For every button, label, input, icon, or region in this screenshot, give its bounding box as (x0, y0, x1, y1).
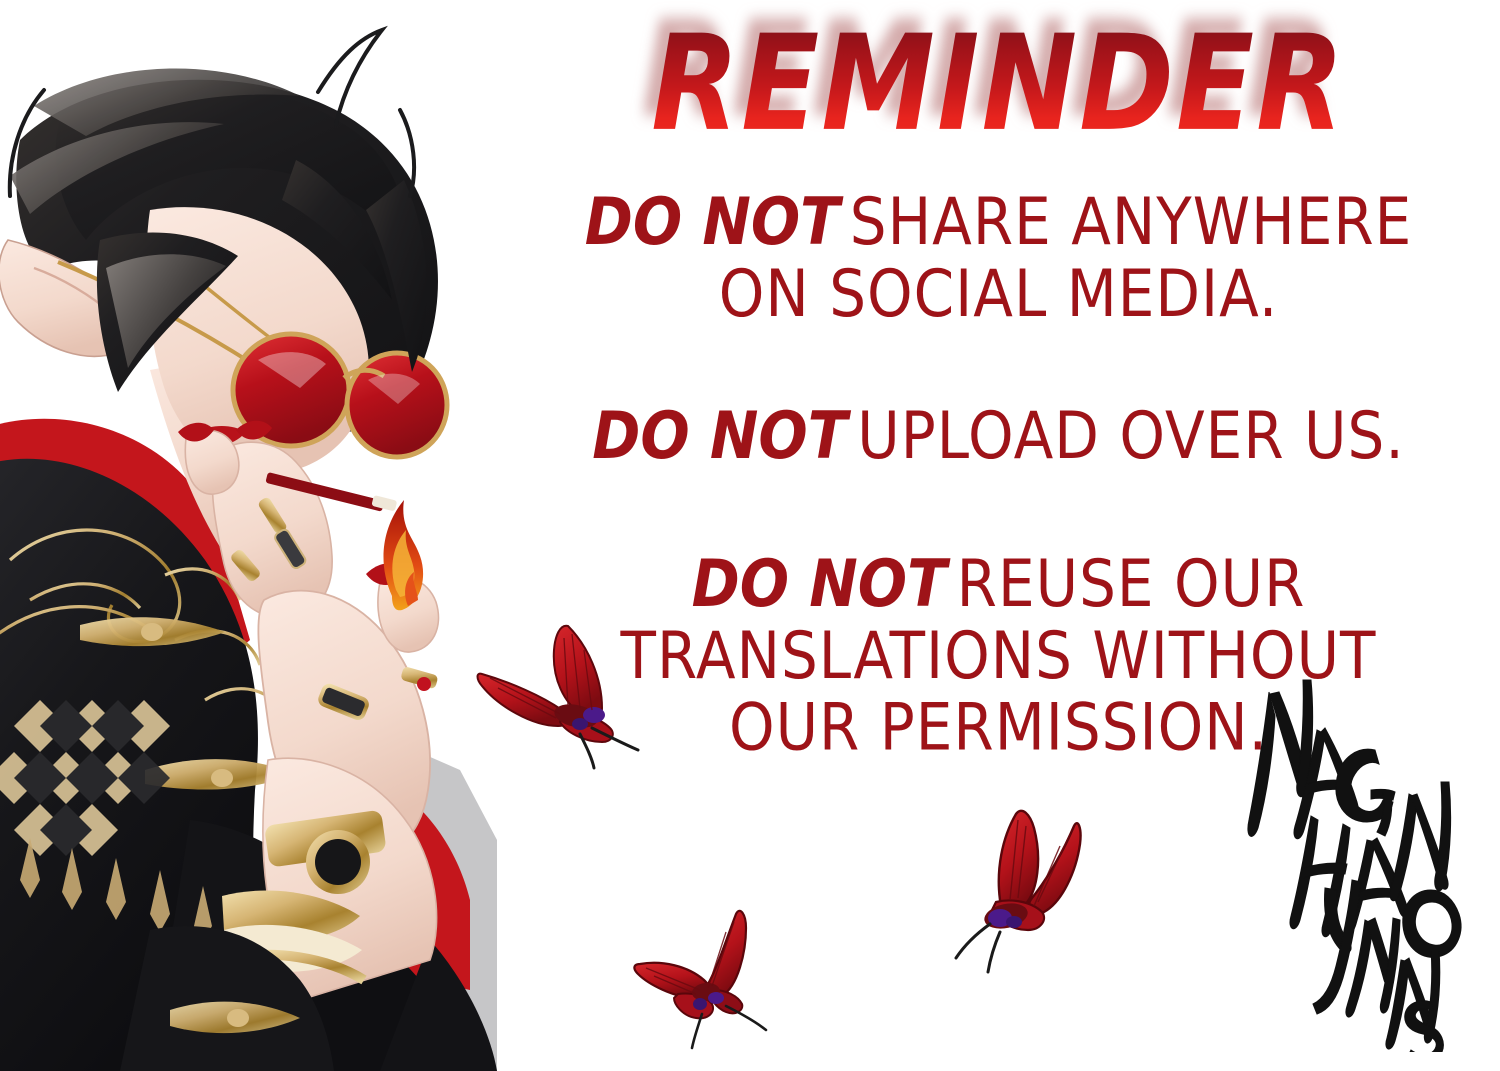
character-artwork (0, 0, 497, 1071)
rule-3-line-2: TRANSLATIONS WITHOUT (497, 620, 1500, 692)
page-title-wrap: REMINDER (497, 18, 1500, 130)
rule-1-line-2: ON SOCIAL MEDIA. (497, 258, 1500, 330)
rule-1: DO NOTSHARE ANYWHERE ON SOCIAL MEDIA. (497, 186, 1500, 329)
rule-3-line-1: DO NOTREUSE OUR (497, 548, 1500, 620)
rule-2: DO NOTUPLOAD OVER US. (497, 400, 1500, 472)
text-column: REMINDER DO NOTSHARE ANYWHERE ON SOCIAL … (497, 0, 1500, 1071)
character-illustration (0, 0, 497, 1071)
rule-1-line-1-rest: SHARE ANYWHERE (850, 184, 1413, 260)
rule-3: DO NOTREUSE OUR TRANSLATIONS WITHOUT OUR… (497, 548, 1500, 763)
reminder-poster: REMINDER DO NOTSHARE ANYWHERE ON SOCIAL … (0, 0, 1500, 1071)
rule-2-line-1-rest: UPLOAD OVER US. (857, 398, 1404, 474)
rule-2-emphasis: DO NOT (592, 398, 857, 474)
rule-1-emphasis: DO NOT (585, 184, 850, 260)
page-title: REMINDER (651, 18, 1346, 150)
rule-1-line-1: DO NOTSHARE ANYWHERE (497, 186, 1500, 258)
rule-3-emphasis: DO NOT (692, 546, 957, 622)
rule-3-line-3: OUR PERMISSION. (497, 691, 1500, 763)
rule-2-line-1: DO NOTUPLOAD OVER US. (497, 400, 1500, 472)
rule-3-line-1-rest: REUSE OUR (957, 546, 1306, 622)
